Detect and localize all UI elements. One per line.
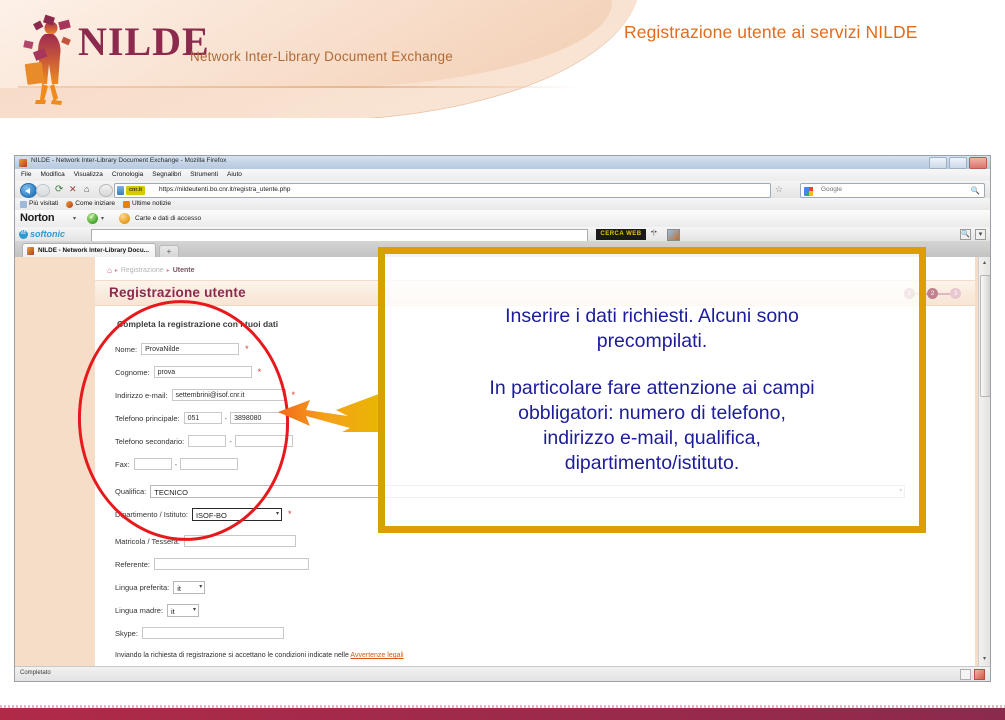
breadcrumb-separator: ▸ (115, 267, 118, 274)
callout-line-2: precompilati. (489, 329, 814, 354)
browser-status-bar: Completato (15, 666, 990, 681)
site-identity-badge: cnr.it (126, 186, 145, 195)
select-lingua-madre[interactable]: it (167, 604, 199, 617)
stop-icon[interactable]: ✕ (69, 184, 77, 195)
legal-note: Inviando la richiesta di registrazione s… (115, 652, 990, 659)
search-bar[interactable]: Google 🔍 (800, 183, 985, 198)
input-cognome[interactable]: prova (154, 366, 252, 378)
bookmark-piu-visitati[interactable]: Più visitati (20, 198, 58, 210)
close-button[interactable] (969, 157, 987, 169)
label-skype: Skype: (115, 629, 138, 638)
norton-safe-chevron-down-icon[interactable]: ▾ (101, 215, 104, 222)
bookmark-label: Ultime notizie (132, 198, 171, 210)
firefox-icon (66, 201, 73, 208)
softonic-search-button[interactable]: CERCA WEB (596, 229, 646, 240)
step-3-dot: 3 (950, 288, 961, 299)
home-icon[interactable]: ⌂ (107, 266, 112, 275)
search-placeholder: Google (821, 186, 842, 193)
header-underline (18, 86, 578, 88)
breadcrumb-separator: ▸ (167, 267, 170, 274)
input-fax-prefix[interactable] (134, 458, 172, 470)
callout-line-5: indirizzo e-mail, qualifica, (489, 426, 814, 451)
callout-annotation-box: Inserire i dati richiesti. Alcuni sono p… (378, 247, 926, 533)
legal-link-avvertenze[interactable]: Avvertenze legali (350, 652, 403, 659)
label-referente: Referente: (115, 560, 150, 569)
required-marker: * (245, 345, 249, 353)
menu-item-modifica[interactable]: Modifica (40, 169, 64, 181)
window-controls[interactable] (929, 157, 987, 169)
input-email[interactable]: settembrini@isof.cnr.it (172, 389, 286, 401)
softonic-chevron-icon[interactable]: •|• (651, 230, 657, 236)
label-qualifica: Qualifica: (115, 487, 146, 496)
select-lingua-preferita[interactable]: it (173, 581, 205, 594)
softonic-search-input[interactable] (91, 229, 588, 242)
callout-line-3: In particolare fare attenzione ai campi (489, 376, 814, 401)
callout-line-6: dipartimento/istituto. (489, 451, 814, 476)
browser-tab-nilde[interactable]: NILDE - Network Inter-Library Docu... (22, 243, 156, 258)
home-icon[interactable]: ⌂ (84, 184, 89, 194)
input-telefono-secondario-prefix[interactable] (188, 435, 226, 447)
menu-item-cronologia[interactable]: Cronologia (112, 169, 143, 181)
bookmark-folder-icon (20, 201, 27, 208)
firefox-favicon-icon (19, 159, 27, 167)
label-lingua-preferita: Lingua preferita: (115, 583, 169, 592)
input-telefono-principale-prefix[interactable]: 051 (184, 412, 222, 424)
rss-icon (123, 201, 130, 208)
norton-identity-card-icon[interactable] (119, 213, 130, 224)
softonic-toolbar[interactable]: softonic CERCA WEB •|• 🔍 ▾ (15, 227, 990, 242)
label-matricola: Matricola / Tessera: (115, 537, 180, 546)
label-dipartimento: Dipartimento / Istituto: (115, 510, 188, 519)
vertical-scrollbar[interactable]: ▴ ▾ (978, 257, 990, 666)
input-fax-number[interactable] (180, 458, 238, 470)
lock-icon (117, 186, 124, 195)
callout-text: Inserire i dati richiesti. Alcuni sono p… (489, 304, 814, 476)
site-identity-icon[interactable] (99, 184, 113, 197)
menu-item-visualizza[interactable]: Visualizza (74, 169, 103, 181)
label-email: Indirizzo e-mail: (115, 391, 168, 400)
label-cognome: Cognome: (115, 368, 150, 377)
softonic-brand-label: softonic (30, 229, 65, 239)
menu-item-segnalibri[interactable]: Segnalibri (152, 169, 181, 181)
search-magnifier-icon[interactable]: 🔍 (971, 186, 980, 195)
label-telefono-secondario: Telefono secondario: (115, 437, 184, 446)
input-telefono-principale-number[interactable]: 3898080 (230, 412, 288, 424)
softonic-search-icon[interactable]: 🔍 (960, 229, 971, 240)
bookmark-label: Come iniziare (75, 198, 115, 210)
browser-window-title: NILDE - Network Inter-Library Document E… (31, 157, 226, 164)
scroll-up-arrow-icon[interactable]: ▴ (980, 259, 989, 268)
menu-item-aiuto[interactable]: Aiuto (227, 169, 242, 181)
required-marker: * (292, 391, 296, 399)
step-2-dot: 2 (927, 288, 938, 299)
breadcrumb-item-registrazione[interactable]: Registrazione (121, 267, 164, 274)
reload-icon[interactable]: ⟳ (55, 184, 63, 195)
minimize-button[interactable] (929, 157, 947, 169)
tab-favicon-icon (27, 247, 34, 255)
phone-separator: - (175, 460, 178, 469)
slide-bottom-bar (0, 708, 1005, 720)
maximize-button[interactable] (949, 157, 967, 169)
required-marker: * (258, 368, 262, 376)
bookmark-come-iniziare[interactable]: Come iniziare (66, 198, 115, 210)
bookmark-star-icon[interactable]: ☆ (775, 184, 783, 195)
phone-separator: - (225, 414, 228, 423)
menu-item-strumenti[interactable]: Strumenti (190, 169, 218, 181)
callout-line-1: Inserire i dati richiesti. Alcuni sono (489, 304, 814, 329)
input-telefono-secondario-number[interactable] (235, 435, 293, 447)
norton-toolbar[interactable]: Norton ▾ ▾ Carte e dati di accesso (15, 210, 990, 228)
menu-item-file[interactable]: File (21, 169, 31, 181)
norton-chevron-down-icon[interactable]: ▾ (73, 215, 76, 222)
slide-title: Registrazione utente ai servizi NILDE (624, 22, 994, 43)
field-row-lingua-madre: Lingua madre: it (115, 603, 990, 617)
softonic-menu-icon[interactable]: ▾ (975, 229, 986, 240)
scroll-down-arrow-icon[interactable]: ▾ (980, 655, 989, 664)
forward-button-icon[interactable] (36, 184, 50, 197)
url-bar[interactable]: cnr.it https://nildeutenti.bo.cnr.it/reg… (114, 183, 771, 198)
required-marker: * (288, 510, 292, 518)
status-alert-icon[interactable] (974, 669, 985, 680)
nilde-logo-figure-icon (18, 8, 80, 108)
bookmark-ultime-notizie[interactable]: Ultime notizie (123, 198, 171, 210)
input-nome[interactable]: ProvaNilde (141, 343, 239, 355)
select-dipartimento[interactable]: ISOF-BO (192, 508, 282, 521)
label-lingua-madre: Lingua madre: (115, 606, 163, 615)
callout-line-4: obbligatori: numero di telefono, (489, 401, 814, 426)
input-matricola[interactable] (184, 535, 296, 547)
input-skype[interactable] (142, 627, 284, 639)
google-icon (804, 187, 813, 196)
norton-brand-label: Norton (20, 212, 54, 224)
required-marker: * (294, 414, 298, 422)
url-text: https://nildeutenti.bo.cnr.it/registra_u… (159, 186, 291, 193)
browser-title-bar: NILDE - Network Inter-Library Document E… (15, 156, 990, 170)
label-fax: Fax: (115, 460, 130, 469)
nilde-tagline: Network Inter-Library Document Exchange (190, 49, 453, 64)
back-button-icon[interactable] (20, 183, 37, 198)
breadcrumb-item-utente: Utente (173, 267, 195, 274)
tab-label: NILDE - Network Inter-Library Docu... (38, 247, 149, 254)
norton-cards-label[interactable]: Carte e dati di accesso (135, 215, 201, 222)
label-telefono-principale: Telefono principale: (115, 414, 180, 423)
softonic-thumbnail-icon[interactable] (667, 229, 680, 241)
label-nome: Nome: (115, 345, 137, 354)
bookmark-label: Più visitati (29, 198, 58, 210)
field-row-matricola: Matricola / Tessera: (115, 534, 990, 548)
field-row-skype: Skype: (115, 626, 990, 640)
norton-safe-check-icon[interactable] (87, 213, 98, 224)
status-text: Completato (20, 670, 51, 676)
field-row-referente: Referente: (115, 557, 990, 571)
legal-note-text: Inviando la richiesta di registrazione s… (115, 652, 350, 659)
status-indicator-icon[interactable] (960, 669, 971, 680)
input-referente[interactable] (154, 558, 309, 570)
browser-navigation-toolbar: ⟳ ✕ ⌂ cnr.it https://nildeutenti.bo.cnr.… (15, 181, 990, 199)
scrollbar-thumb[interactable] (980, 275, 991, 397)
breadcrumb[interactable]: ⌂ ▸ Registrazione ▸ Utente (107, 266, 194, 275)
status-bar-icons[interactable] (960, 669, 985, 680)
slide-header: NILDE Network Inter-Library Document Exc… (0, 0, 1005, 118)
softonic-logo-icon (19, 230, 28, 239)
step-connector (938, 293, 950, 295)
phone-separator: - (229, 437, 232, 446)
page-title: Registrazione utente (109, 285, 246, 300)
field-row-lingua-preferita: Lingua preferita: it (115, 580, 990, 594)
softonic-toolbar-right[interactable]: 🔍 ▾ (960, 229, 986, 240)
